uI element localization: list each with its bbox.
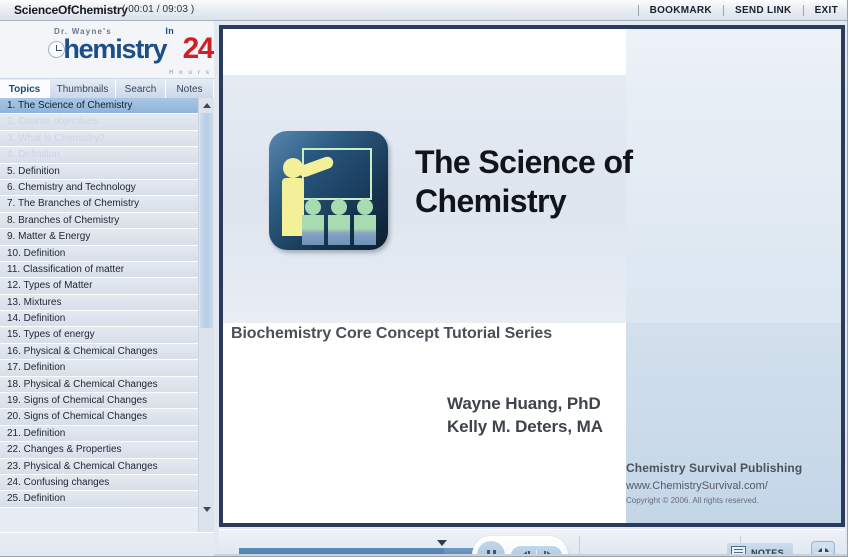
publisher-block: Chemistry Survival Publishing www.Chemis… (626, 461, 831, 505)
topic-list-item[interactable]: 21. Definition (0, 426, 198, 442)
divider (803, 5, 804, 16)
topic-list-item[interactable]: 14. Definition (0, 311, 198, 327)
sidebar: Dr. Wayne's Chemistry In 24 H o u r s To… (0, 21, 214, 557)
topic-list-item[interactable]: 8. Branches of Chemistry (0, 213, 198, 229)
topic-list-item[interactable]: 15. Types of energy (0, 327, 198, 343)
logo-in-text: In (165, 26, 174, 36)
divider (723, 5, 724, 16)
topic-list-item[interactable]: 17. Definition (0, 360, 198, 376)
playback-control-bar: SLIDE 1 OF 40 PLAYING 00:01 / 00:02 (219, 529, 845, 557)
tab-search[interactable]: Search (116, 79, 166, 98)
copyright-notice: Copyright © 2006. All rights reserved. (626, 496, 831, 505)
topic-list-item[interactable]: 12. Types of Matter (0, 278, 198, 294)
topic-list-item[interactable]: 20. Signs of Chemical Changes (0, 409, 198, 425)
topic-list-item[interactable]: 16. Physical & Chemical Changes (0, 344, 198, 360)
scrollbar-thumb[interactable] (200, 113, 213, 328)
logo-main-text: hemistry (63, 34, 166, 64)
topic-list: 1. The Science of Chemistry2. Course obj… (0, 98, 198, 508)
logo-hours-text: H o u r s (169, 70, 211, 76)
topic-list-item[interactable]: 19. Signs of Chemical Changes (0, 393, 198, 409)
bookmark-link[interactable]: BOOKMARK (648, 5, 714, 16)
publisher-url: www.ChemistrySurvival.com/ (626, 480, 831, 492)
header-links: BOOKMARK SEND LINK EXIT (629, 0, 840, 21)
scroll-down-icon[interactable] (199, 502, 214, 516)
tab-thumbnails[interactable]: Thumbnails (50, 79, 116, 98)
teacher-body-icon (282, 178, 304, 236)
send-link-link[interactable]: SEND LINK (733, 5, 794, 16)
author-primary: Wayne Huang, PhD (447, 392, 603, 415)
publisher-name: Chemistry Survival Publishing (626, 461, 831, 475)
divider (638, 5, 639, 16)
stage: The Science of Chemistry Biochemistry Co… (214, 21, 848, 557)
header-elapsed-time: ( 00:01 / 09:03 ) (122, 4, 194, 15)
chemistry-in-24-hours-logo: Dr. Wayne's Chemistry In 24 H o u r s (44, 24, 214, 76)
topic-list-item[interactable]: 2. Course objectives (0, 114, 198, 130)
scroll-up-icon[interactable] (199, 98, 214, 112)
topic-list-item[interactable]: 18. Physical & Chemical Changes (0, 377, 198, 393)
sidebar-footer (0, 532, 214, 557)
topic-list-item[interactable]: 10. Definition (0, 246, 198, 262)
slide-frame: The Science of Chemistry Biochemistry Co… (219, 25, 845, 527)
topic-list-item[interactable]: 24. Confusing changes (0, 475, 198, 491)
player-window: ScienceOfChemistry ( 00:01 / 09:03 ) BOO… (0, 0, 848, 557)
title-bar: ScienceOfChemistry ( 00:01 / 09:03 ) BOO… (0, 0, 848, 21)
topic-list-item[interactable]: 11. Classification of matter (0, 262, 198, 278)
logo-area: Dr. Wayne's Chemistry In 24 H o u r s (0, 21, 214, 78)
slide-subtitle: Biochemistry Core Concept Tutorial Serie… (231, 325, 552, 343)
clock-icon (48, 41, 65, 58)
tab-topics[interactable]: Topics (0, 79, 50, 98)
page-title: ScienceOfChemistry (14, 3, 128, 17)
topic-list-item[interactable]: 4. Definition (0, 147, 198, 163)
seek-marker-icon[interactable] (437, 540, 447, 546)
slide-authors: Wayne Huang, PhD Kelly M. Deters, MA (447, 392, 603, 439)
teacher-classroom-icon (269, 131, 388, 250)
logo-number: 24 (183, 32, 213, 66)
sidebar-tabs: Topics Thumbnails Search Notes (0, 78, 214, 98)
topic-list-item[interactable]: 5. Definition (0, 164, 198, 180)
topic-list-panel: 1. The Science of Chemistry2. Course obj… (0, 98, 214, 532)
topic-list-item[interactable]: 25. Definition (0, 491, 198, 507)
exit-link[interactable]: EXIT (813, 5, 840, 16)
topic-list-item[interactable]: 23. Physical & Chemical Changes (0, 459, 198, 475)
topic-list-item[interactable]: 9. Matter & Energy (0, 229, 198, 245)
topic-list-item[interactable]: 13. Mixtures (0, 295, 198, 311)
tab-notes[interactable]: Notes (166, 79, 214, 98)
topic-list-item[interactable]: 7. The Branches of Chemistry (0, 196, 198, 212)
topic-list-item[interactable]: 22. Changes & Properties (0, 442, 198, 458)
topic-list-scrollbar[interactable] (198, 98, 214, 532)
author-secondary: Kelly M. Deters, MA (447, 415, 603, 438)
topic-list-item[interactable]: 6. Chemistry and Technology (0, 180, 198, 196)
topic-list-item[interactable]: 1. The Science of Chemistry (0, 98, 198, 114)
slide-canvas[interactable]: The Science of Chemistry Biochemistry Co… (223, 29, 841, 523)
slide-title: The Science of Chemistry (415, 143, 715, 221)
students-icon (302, 199, 376, 247)
topic-list-item[interactable]: 3. What is Chemistry? (0, 131, 198, 147)
